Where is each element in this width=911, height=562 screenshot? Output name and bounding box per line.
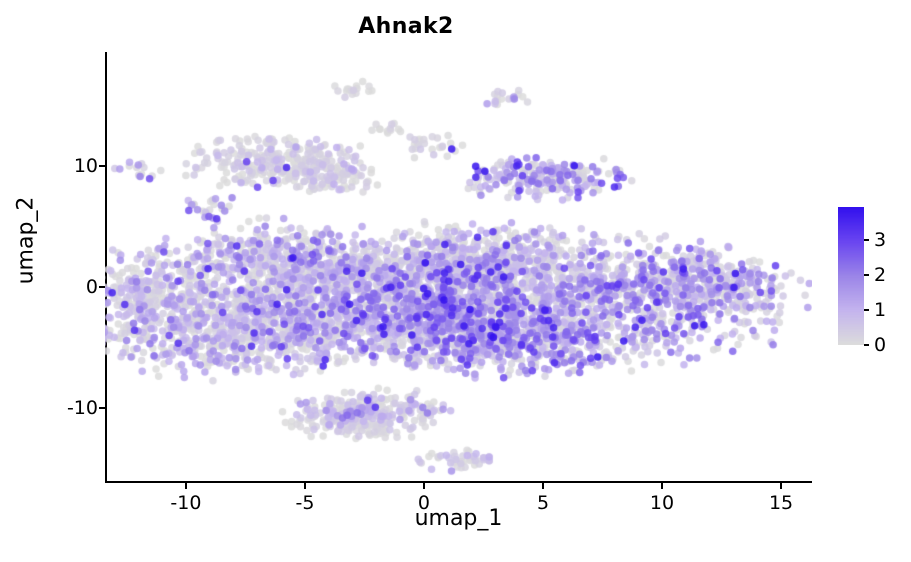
y-tick-mark bbox=[99, 407, 105, 409]
y-tick-mark bbox=[99, 286, 105, 288]
x-tick-mark bbox=[780, 483, 782, 489]
x-tick-mark bbox=[423, 483, 425, 489]
colorbar-tick-label: 0 bbox=[874, 334, 886, 356]
y-tick-label: 0 bbox=[86, 276, 98, 298]
scatter-plot-area bbox=[105, 52, 812, 483]
colorbar: 0123 bbox=[838, 207, 911, 347]
x-tick-mark bbox=[304, 483, 306, 489]
colorbar-tick-label: 2 bbox=[874, 264, 886, 286]
y-axis-label: umap_2 bbox=[13, 197, 38, 285]
x-axis-label: umap_1 bbox=[105, 506, 812, 531]
colorbar-tick-mark bbox=[864, 309, 869, 311]
colorbar-tick-label: 1 bbox=[874, 299, 886, 321]
y-tick-label: -10 bbox=[67, 397, 98, 419]
plot-axes: -10-5051015 100-10 bbox=[105, 52, 812, 483]
colorbar-tick-mark bbox=[864, 274, 869, 276]
x-tick-mark bbox=[542, 483, 544, 489]
figure-canvas: Ahnak2 -10-5051015 100-10 umap_1 umap_2 … bbox=[0, 0, 911, 562]
colorbar-tick-mark bbox=[864, 239, 869, 241]
y-tick-mark bbox=[99, 165, 105, 167]
page-title: Ahnak2 bbox=[0, 14, 812, 39]
colorbar-tick-label: 3 bbox=[874, 229, 886, 251]
x-tick-mark bbox=[185, 483, 187, 489]
colorbar-gradient bbox=[838, 207, 864, 345]
colorbar-tick-mark bbox=[864, 344, 869, 346]
x-tick-mark bbox=[661, 483, 663, 489]
y-tick-label: 10 bbox=[74, 155, 98, 177]
